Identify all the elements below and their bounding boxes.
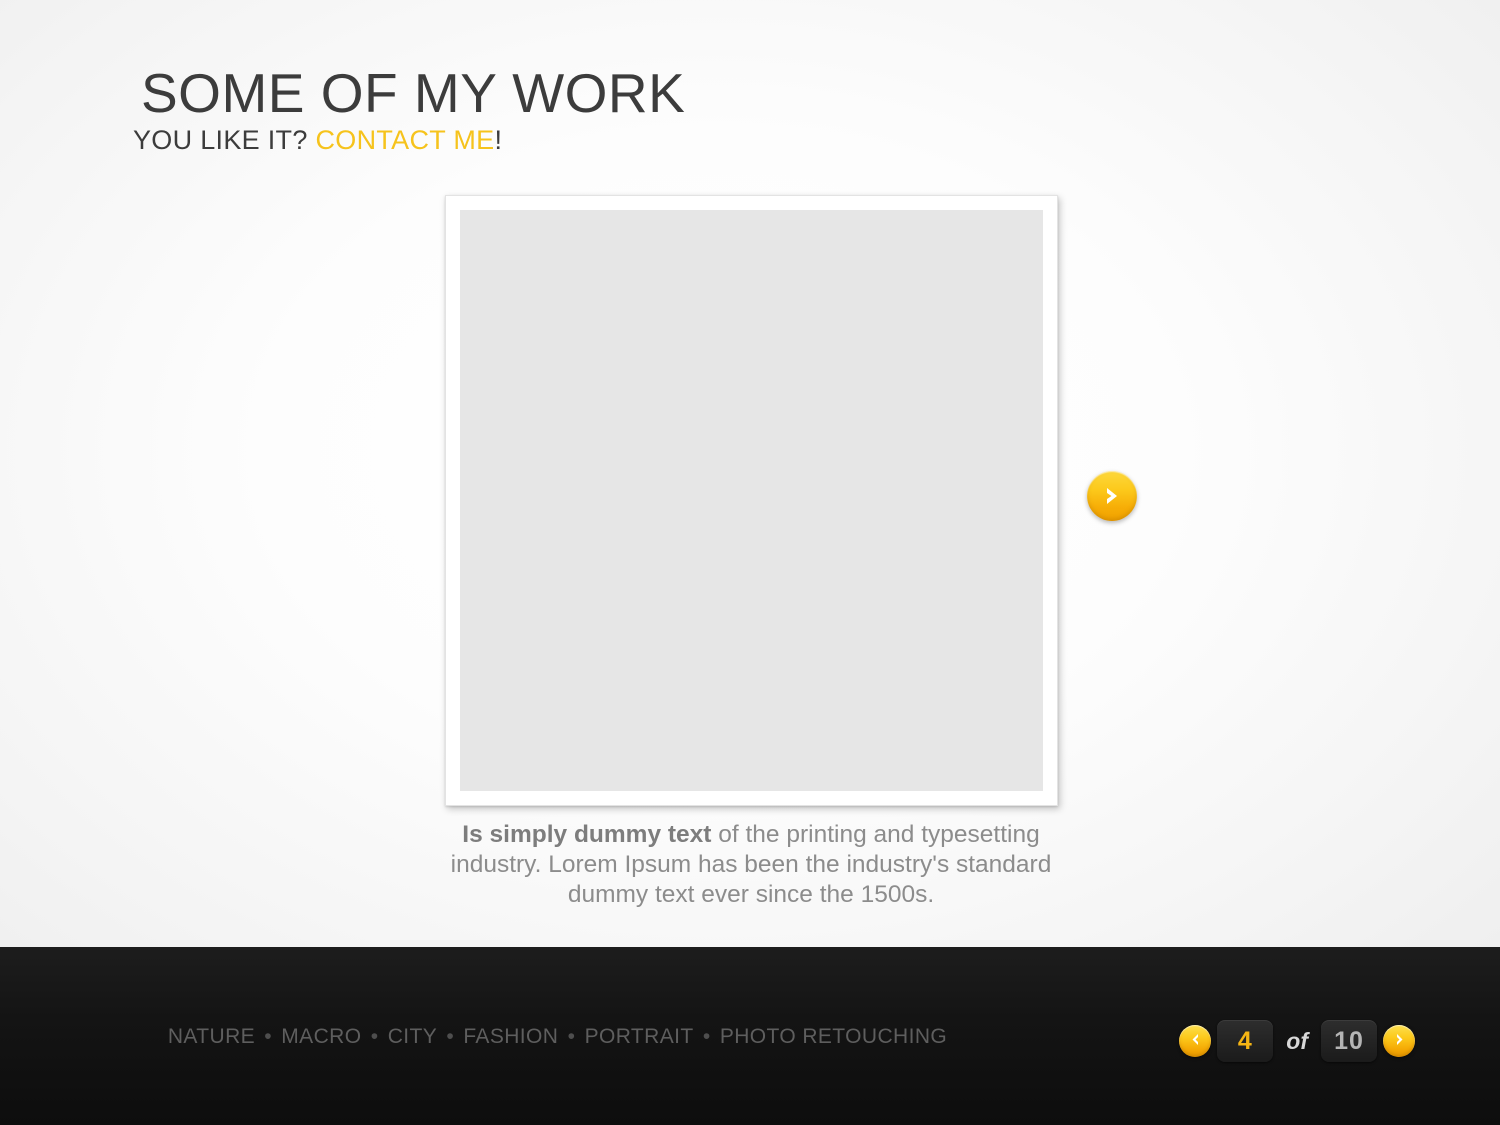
pagination-prev-button[interactable]	[1179, 1025, 1211, 1057]
next-slide-button[interactable]	[1087, 471, 1137, 521]
caption-lead: Is simply dummy text	[462, 821, 711, 848]
category-item[interactable]: PORTRAIT	[585, 1025, 694, 1048]
pagination: 4 of 10	[1179, 1020, 1415, 1062]
category-separator: •	[361, 1025, 387, 1048]
category-separator: •	[694, 1025, 720, 1048]
subtitle-suffix: !	[494, 125, 502, 155]
category-separator: •	[558, 1025, 584, 1048]
subtitle-prefix: YOU LIKE IT?	[133, 125, 315, 155]
pagination-next-button[interactable]	[1383, 1025, 1415, 1057]
slide-header: SOME OF MY WORK YOU LIKE IT? CONTACT ME!	[133, 66, 1033, 154]
photo-frame[interactable]	[445, 195, 1058, 806]
chevron-right-icon	[1393, 1032, 1406, 1050]
slide-stage: SOME OF MY WORK YOU LIKE IT? CONTACT ME!…	[0, 0, 1500, 1125]
category-item[interactable]: FASHION	[463, 1025, 558, 1048]
slide-caption: Is simply dummy text of the printing and…	[440, 820, 1062, 910]
page-title: SOME OF MY WORK	[133, 66, 1033, 121]
pagination-of-label: of	[1279, 1028, 1315, 1055]
chevron-left-icon	[1189, 1032, 1202, 1050]
category-separator: •	[255, 1025, 281, 1048]
contact-me-link[interactable]: CONTACT ME	[315, 125, 494, 155]
category-item[interactable]: CITY	[388, 1025, 437, 1048]
category-item[interactable]: PHOTO RETOUCHING	[720, 1025, 947, 1048]
category-separator: •	[437, 1025, 463, 1048]
pagination-total-pages: 10	[1321, 1020, 1377, 1062]
category-item[interactable]: MACRO	[281, 1025, 361, 1048]
chevron-right-icon	[1102, 484, 1122, 508]
category-item[interactable]: NATURE	[168, 1025, 255, 1048]
pagination-current-page: 4	[1217, 1020, 1273, 1062]
photo-placeholder	[460, 210, 1043, 791]
page-subtitle: YOU LIKE IT? CONTACT ME!	[133, 127, 1033, 154]
